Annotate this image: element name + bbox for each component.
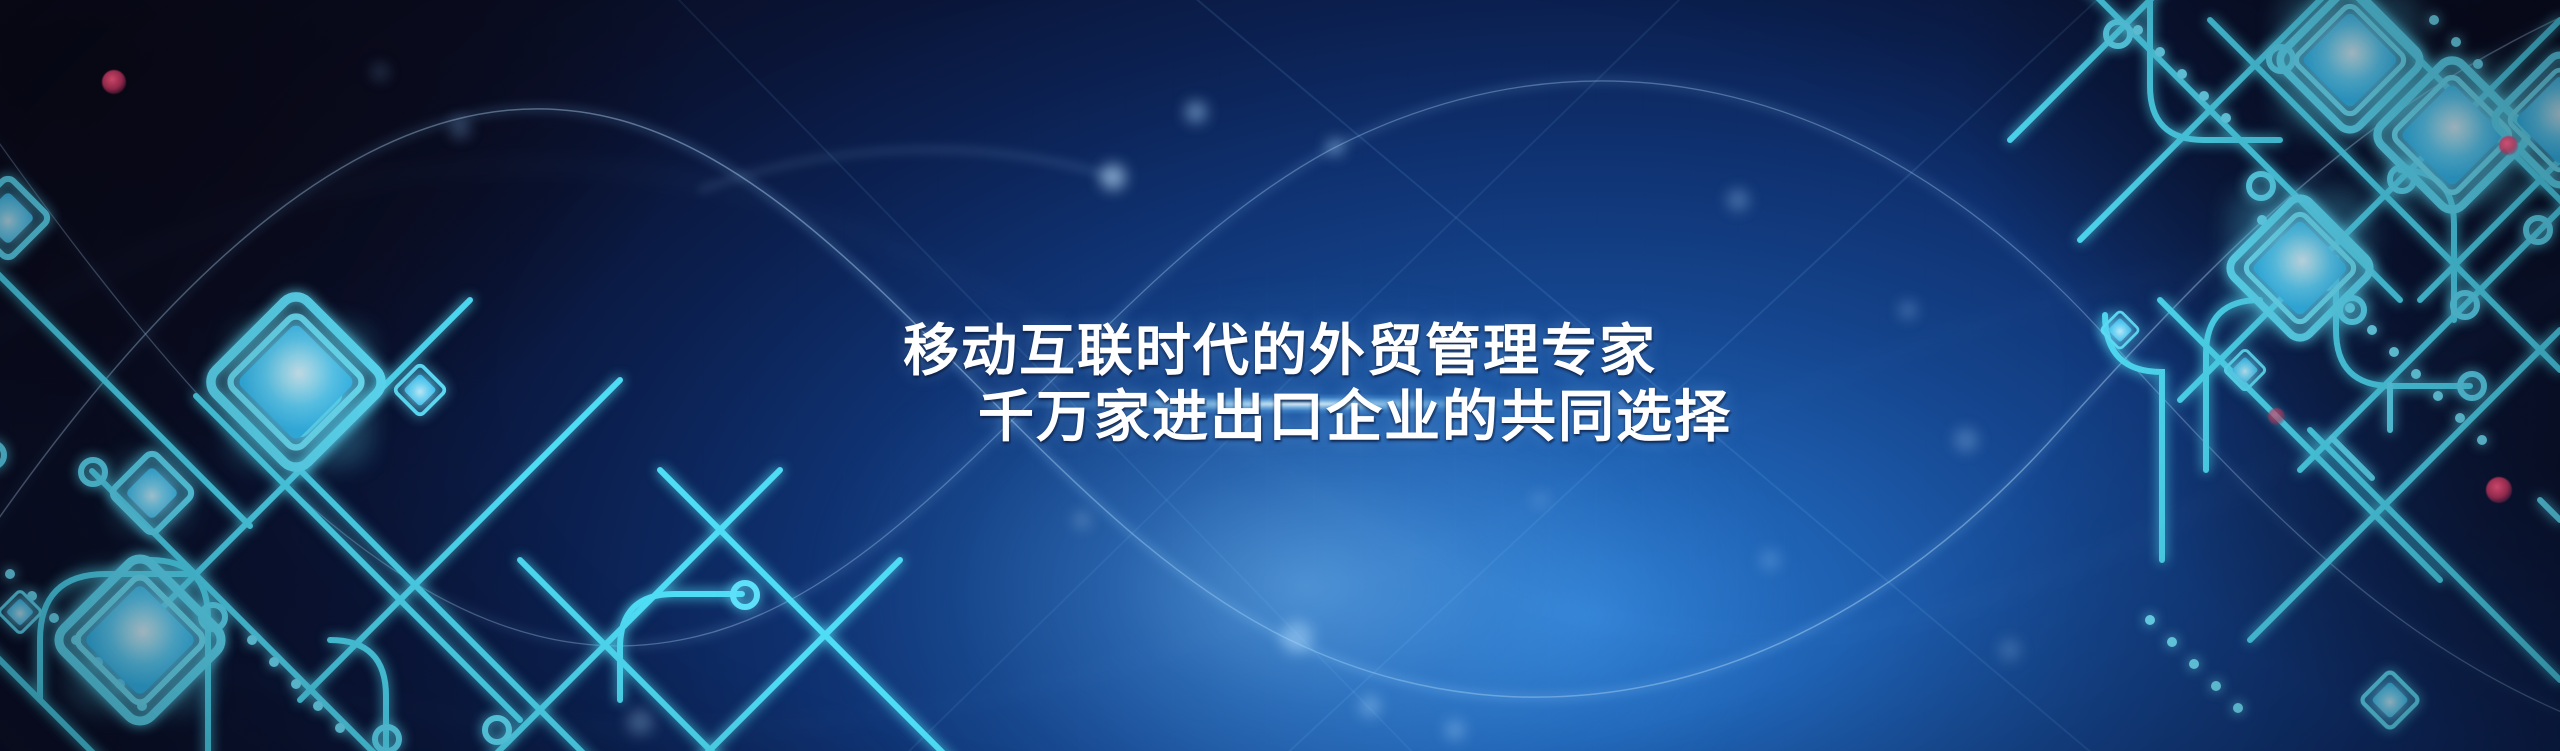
background-vignette	[0, 0, 2560, 751]
hero-banner: 移动互联时代的外贸管理专家 千万家进出口企业的共同选择	[0, 0, 2560, 751]
